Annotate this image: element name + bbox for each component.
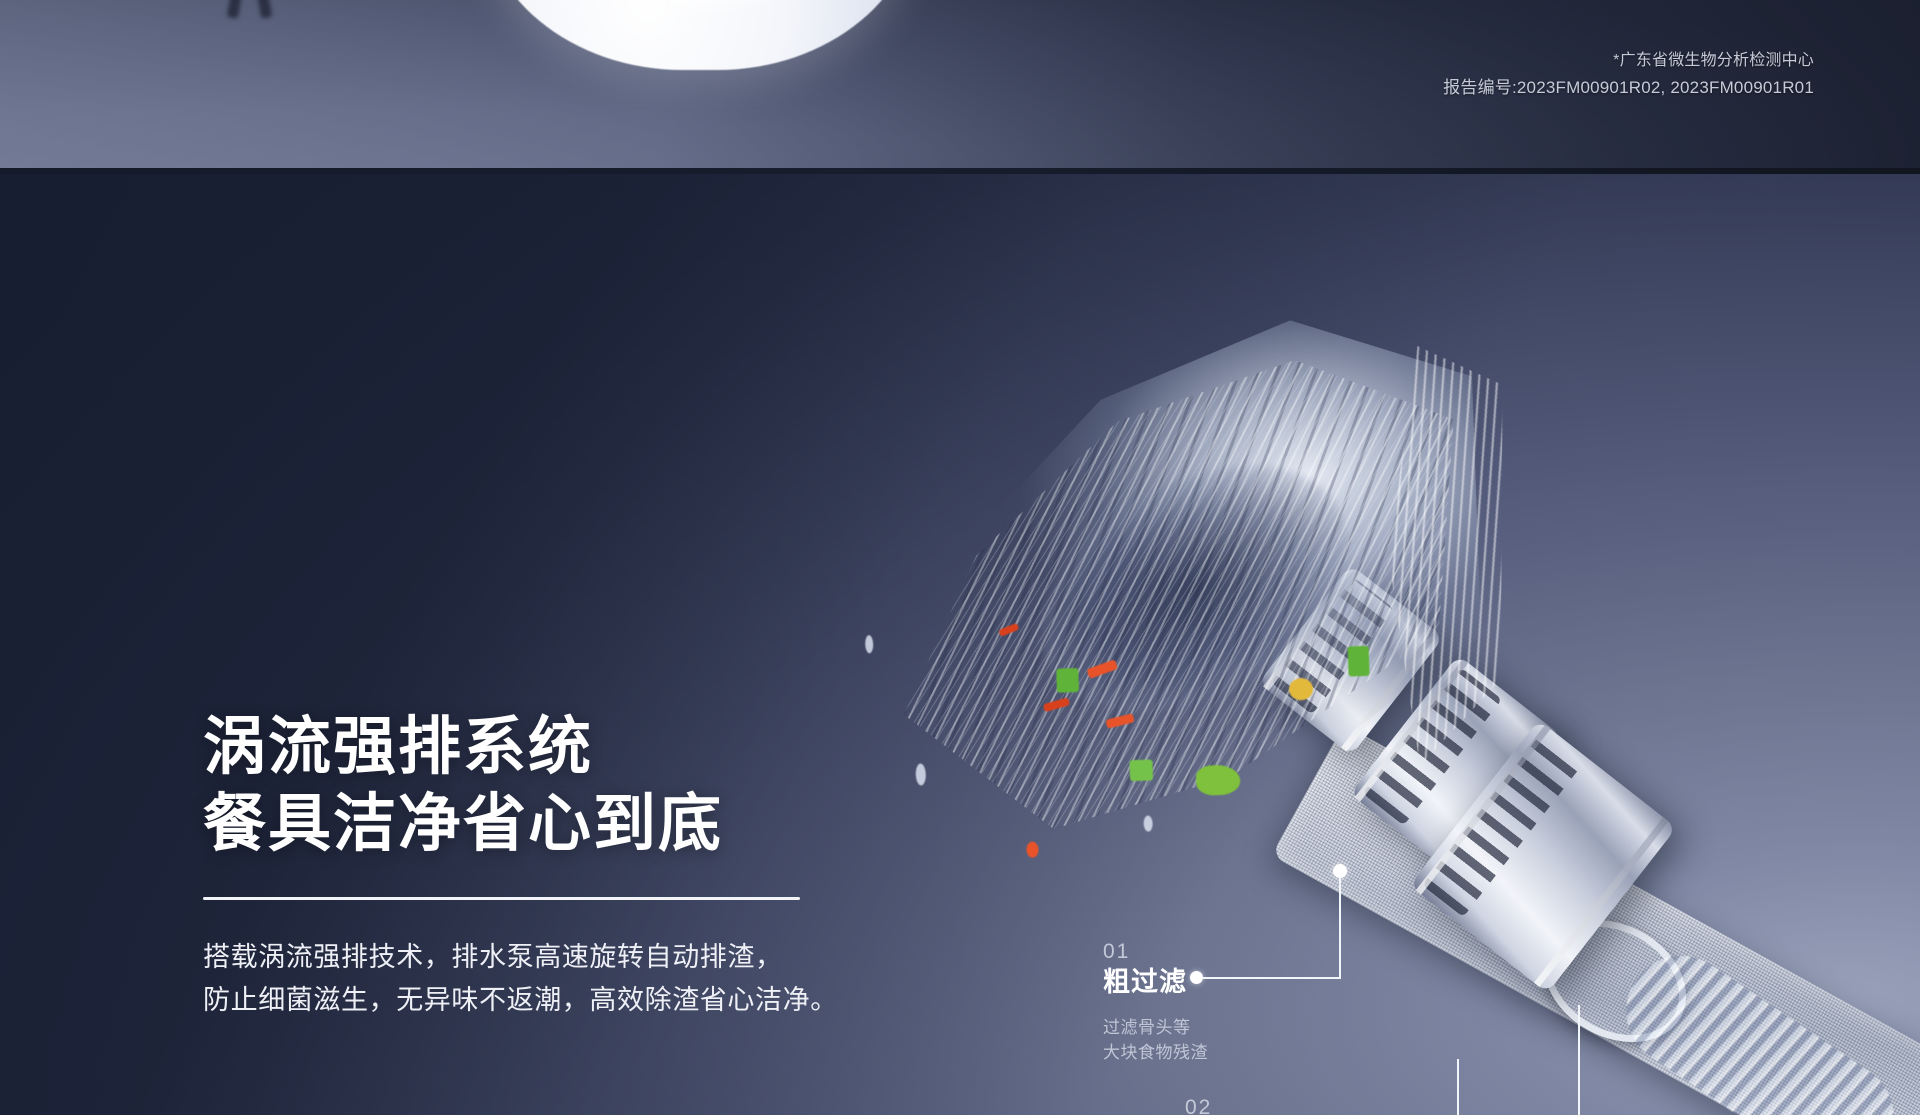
food-debris-particle [1348,646,1370,677]
headline-line-2: 餐具洁净省心到底 [203,786,963,863]
water-vortex-image [870,313,1509,894]
water-droplet [865,635,874,653]
page-title: 涡流强排系统 餐具洁净省心到底 [203,709,963,863]
description-line-1: 搭载涡流强排技术，排水泵高速旋转自动排渣， [203,936,963,980]
callout-01-desc-line-1: 过滤骨头等 [1103,1016,1208,1041]
drain-mechanism-image [196,0,306,46]
water-droplet [1143,815,1153,831]
callout-01-desc-line-2: 大块食物残渣 [1103,1041,1208,1066]
hero-copy-block: 涡流强排系统 餐具洁净省心到底 搭载涡流强排技术，排水泵高速旋转自动排渣， 防止… [203,709,963,1023]
callout-02: 02 细过滤 过滤骨头等 大块食物残渣 [1185,1095,1290,1115]
top-banner: *广东省微生物分析检测中心 报告编号:2023FM00901R02, 2023F… [0,0,1920,168]
food-debris-particle [1056,668,1079,693]
hero-stage: 涡流强排系统 餐具洁净省心到底 搭载涡流强排技术，排水泵高速旋转自动排渣， 防止… [0,174,1920,1115]
vortex-streaks [892,355,1468,834]
callout-01-number: 01 [1103,939,1208,964]
description-line-2: 防止细菌滋生，无异味不返潮，高效除渣省心洁净。 [203,979,963,1023]
callout-01: 01 粗过滤 过滤骨头等 大块食物残渣 [1103,939,1208,1065]
callout-02-number: 02 [1185,1095,1290,1115]
food-debris-particle [1129,759,1153,781]
title-divider-rule [203,897,800,900]
certification-note: *广东省微生物分析检测中心 报告编号:2023FM00901R02, 2023F… [1443,48,1814,101]
callout-01-description: 过滤骨头等 大块食物残渣 [1103,1016,1208,1065]
certification-lab-name: *广东省微生物分析检测中心 [1443,48,1814,74]
product-feature-page: *广东省微生物分析检测中心 报告编号:2023FM00901R02, 2023F… [0,0,1920,1115]
food-debris-particle [1026,841,1039,857]
description-text: 搭载涡流强排技术，排水泵高速旋转自动排渣， 防止细菌滋生，无异味不返潮，高效除渣… [203,936,963,1023]
headline-line-1: 涡流强排系统 [203,709,963,786]
callout-01-title: 粗过滤 [1103,966,1208,1000]
certification-report-number: 报告编号:2023FM00901R02, 2023FM00901R01 [1443,74,1814,102]
